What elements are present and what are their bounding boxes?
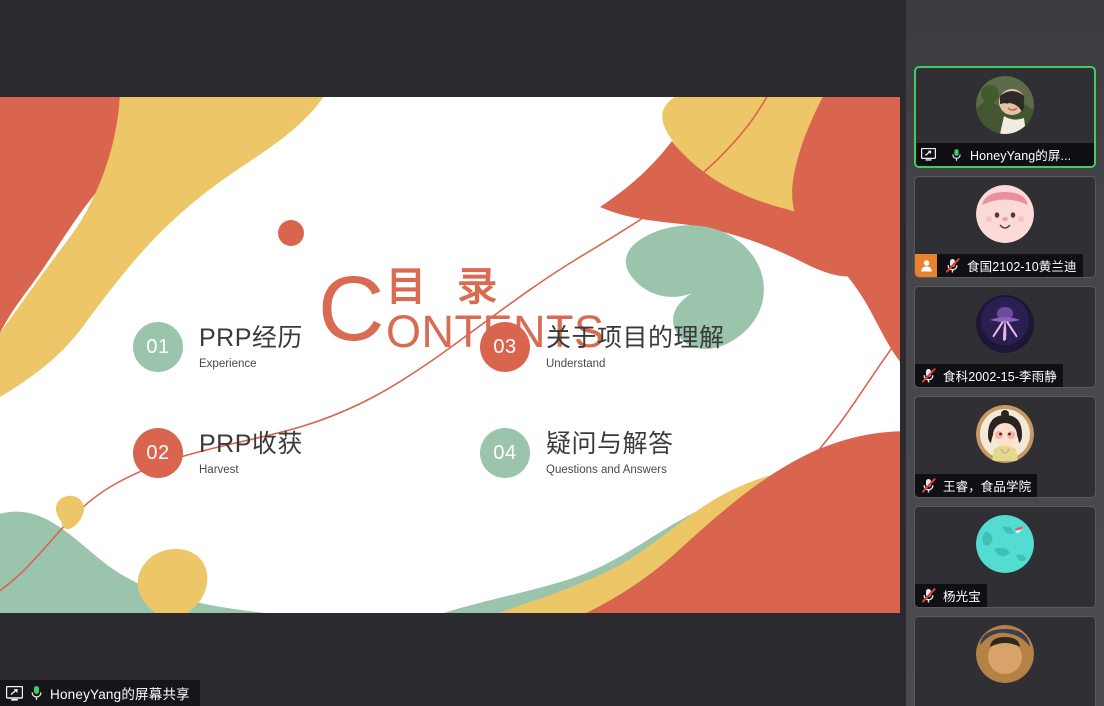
participant-name: 王睿，食品学院 [943,476,1031,495]
participant-tile[interactable]: 王睿，食品学院 [914,396,1096,498]
agenda-subtitle-04: Questions and Answers [546,462,674,478]
participant-label: 杨光宝 [915,584,987,607]
agenda-item-02: 02 PRP收获 Harvest [133,428,303,478]
agenda-badge-02: 02 [133,428,183,478]
agenda-badge-03: 03 [480,322,530,372]
title-letter-c: C [318,263,384,355]
agenda-subtitle-03: Understand [546,356,725,372]
participant-tile[interactable]: 杨光宝 [914,506,1096,608]
microphone-muted-icon [920,584,938,607]
microphone-icon [30,685,43,701]
participant-tile[interactable]: HoneyYang的屏... [914,66,1096,168]
shared-screen-viewport: C 目 录 ONTENTS 01 PRP经历 Experience 02 PRP… [0,0,905,706]
agenda-title-03: 关于项目的理解 [546,323,725,353]
participant-name: 食国2102-10黄兰迪 [967,256,1077,275]
participant-label: HoneyYang的屏... [916,143,1094,166]
participant-tile[interactable]: 食科2002-15-李雨静 [914,286,1096,388]
avatar-cartoon-girl [976,405,1034,463]
agenda-item-01: 01 PRP经历 Experience [133,322,303,372]
agenda-item-04: 04 疑问与解答 Questions and Answers [480,428,674,478]
avatar [976,295,1034,353]
microphone-unmuted-icon [947,143,965,166]
participant-name: 食科2002-15-李雨静 [943,366,1057,385]
participant-label: 食科2002-15-李雨静 [915,364,1063,387]
agenda-subtitle-01: Experience [199,356,303,372]
participant-tile[interactable]: 食国2102-10黄兰迪 [914,176,1096,278]
participant-name: HoneyYang的屏... [970,145,1071,164]
microphone-icon [951,148,962,162]
avatar-dark-figure [976,295,1034,353]
participant-label: 王睿，食品学院 [915,474,1037,497]
participant-sidebar[interactable]: HoneyYang的屏... [906,0,1104,706]
microphone-muted-icon [946,258,960,273]
person-icon [920,259,933,272]
presentation-slide[interactable]: C 目 录 ONTENTS 01 PRP经历 Experience 02 PRP… [0,97,900,613]
avatar-teal-planet [976,515,1034,573]
share-status-label: HoneyYang的屏幕共享 [50,683,190,703]
agenda-title-01: PRP经历 [199,323,303,353]
avatar [976,625,1034,683]
microphone-muted-icon [922,588,936,603]
avatar [976,76,1034,134]
microphone-muted-icon [920,474,938,497]
participant-label: 食国2102-10黄兰迪 [915,254,1083,277]
participant-list: HoneyYang的屏... [906,66,1104,706]
agenda-title-04: 疑问与解答 [546,429,674,459]
agenda-title-02: PRP收获 [199,429,303,459]
share-status-bar: HoneyYang的屏幕共享 [0,680,200,706]
microphone-muted-icon [920,364,938,387]
avatar-photo-partial [976,625,1034,683]
agenda-badge-04: 04 [480,428,530,478]
avatar-cartoon-bear [976,185,1034,243]
avatar [976,515,1034,573]
avatar [976,185,1034,243]
avatar [976,405,1034,463]
participant-name: 杨光宝 [943,586,981,605]
microphone-muted-icon [922,368,936,383]
microphone-muted-icon [922,478,936,493]
title-chinese: 目 录 [386,267,507,307]
zoom-meeting-window: C 目 录 ONTENTS 01 PRP经历 Experience 02 PRP… [0,0,1104,706]
avatar-photo-girl [976,76,1034,134]
host-badge [915,254,937,277]
screen-share-icon [921,148,936,161]
agenda-badge-01: 01 [133,322,183,372]
microphone-muted-icon [944,254,962,277]
screen-share-badge [916,143,940,166]
agenda-subtitle-02: Harvest [199,462,303,478]
agenda-item-03: 03 关于项目的理解 Understand [480,322,725,372]
participant-tile[interactable] [914,616,1096,706]
screen-share-icon [6,686,23,701]
